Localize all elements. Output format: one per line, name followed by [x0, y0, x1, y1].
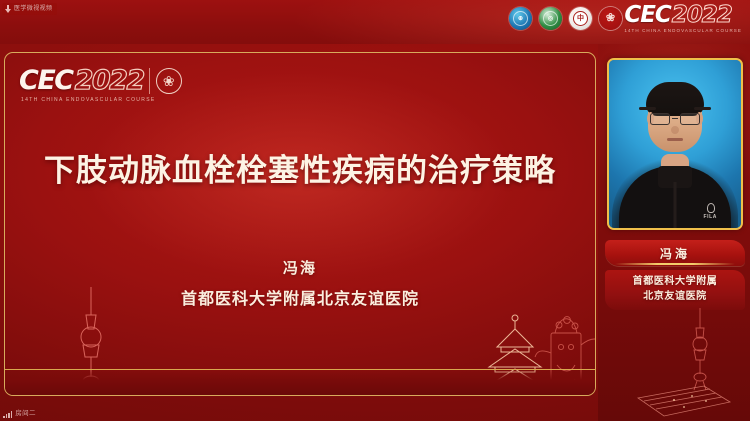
portrait-shirt-placket [674, 182, 677, 228]
lotus-emblem-icon: ❀ [156, 68, 182, 94]
watermark-badge: 医学微视视频 [2, 3, 57, 15]
org-logo-green-inner: ◎ [543, 11, 558, 26]
org-logo-outline: ❀ [599, 7, 622, 30]
glasses-bridge [672, 118, 678, 119]
portrait-nose [671, 126, 679, 134]
slide-glow [5, 53, 595, 395]
sidebar-speaker-org-banner: 首都医科大学附属 北京友谊医院 [605, 270, 745, 310]
portrait-glasses [650, 112, 700, 125]
sidebar-org-line-2: 北京友谊医院 [609, 290, 741, 305]
portrait-brow-left [639, 107, 656, 110]
slide-brand-cec: CEC [19, 67, 73, 94]
slide-brand-row: CEC 2022 ❀ [19, 67, 182, 94]
slide-title: 下肢动脉血栓栓塞性疾病的治疗策略 [5, 145, 595, 190]
portrait-brow-right [694, 107, 711, 110]
slide-brand-subtitle: 14TH CHINA ENDOVASCULAR COURSE [21, 97, 182, 103]
slide-brand-divider [149, 68, 150, 94]
status-bar: 房间二 [3, 411, 36, 418]
slide-speaker-org: 首都医科大学附属北京友谊医院 [5, 285, 595, 309]
right-sidebar: FILA 冯海 首都医科大学附属 北京友谊医院 [598, 44, 750, 421]
header-brand-row: CEC 2022 [624, 4, 742, 27]
org-logo-blue-inner: ⊕ [513, 11, 528, 26]
speaker-video-thumbnail[interactable]: FILA [607, 58, 743, 230]
slide-bottom-band [5, 369, 595, 395]
top-header-bar: 医学微视视频 ⊕ ◎ 中 ❀ [0, 0, 750, 44]
org-logo-red-glyph: 中 [577, 15, 584, 22]
glasses-lens-right [680, 113, 700, 125]
org-logo-blue-glyph: ⊕ [518, 16, 523, 22]
org-logo-green-glyph: ◎ [548, 16, 553, 22]
header-brand-subtitle: 14TH CHINA ENDOVASCULAR COURSE [624, 28, 742, 33]
header-brand: CEC 2022 14TH CHINA ENDOVASCULAR COURSE [624, 4, 742, 33]
sidebar-org-line-1: 首都医科大学附属 [609, 275, 741, 290]
org-logo-green: ◎ [539, 7, 562, 30]
slide-speaker-name: 冯海 [5, 257, 595, 278]
status-room-label: 房间二 [15, 411, 35, 418]
org-logo-red: 中 [569, 7, 592, 30]
presentation-slide: CEC 2022 ❀ 14TH CHINA ENDOVASCULAR COURS… [4, 52, 596, 396]
signal-bars-icon [3, 411, 12, 418]
org-logo-blue: ⊕ [509, 7, 532, 30]
slide-speaker-block: 冯海 首都医科大学附属北京友谊医院 [5, 257, 595, 309]
glasses-lens-left [650, 113, 670, 125]
org-logo-red-inner: 中 [573, 11, 588, 26]
watermark-label: 医学微视视频 [14, 6, 52, 12]
portrait-hair [646, 82, 704, 116]
organizer-logos: ⊕ ◎ 中 ❀ [509, 7, 622, 30]
conference-stream-screen: 医学微视视频 ⊕ ◎ 中 ❀ [0, 0, 750, 421]
slide-brand-logo: CEC 2022 ❀ 14TH CHINA ENDOVASCULAR COURS… [19, 67, 182, 103]
sidebar-speaker-name: 冯海 [660, 245, 690, 262]
org-logo-outline-glyph: ❀ [606, 13, 615, 24]
header-brand-cec: CEC [624, 4, 670, 27]
shirt-brand-label: FILA [703, 214, 717, 220]
download-icon [5, 5, 11, 13]
header-brand-year: 2022 [672, 4, 732, 27]
sidebar-speaker-name-banner: 冯海 [605, 240, 745, 266]
fila-logo-icon [707, 203, 715, 213]
portrait-mouth [667, 138, 683, 141]
slide-brand-year: 2022 [75, 67, 144, 94]
